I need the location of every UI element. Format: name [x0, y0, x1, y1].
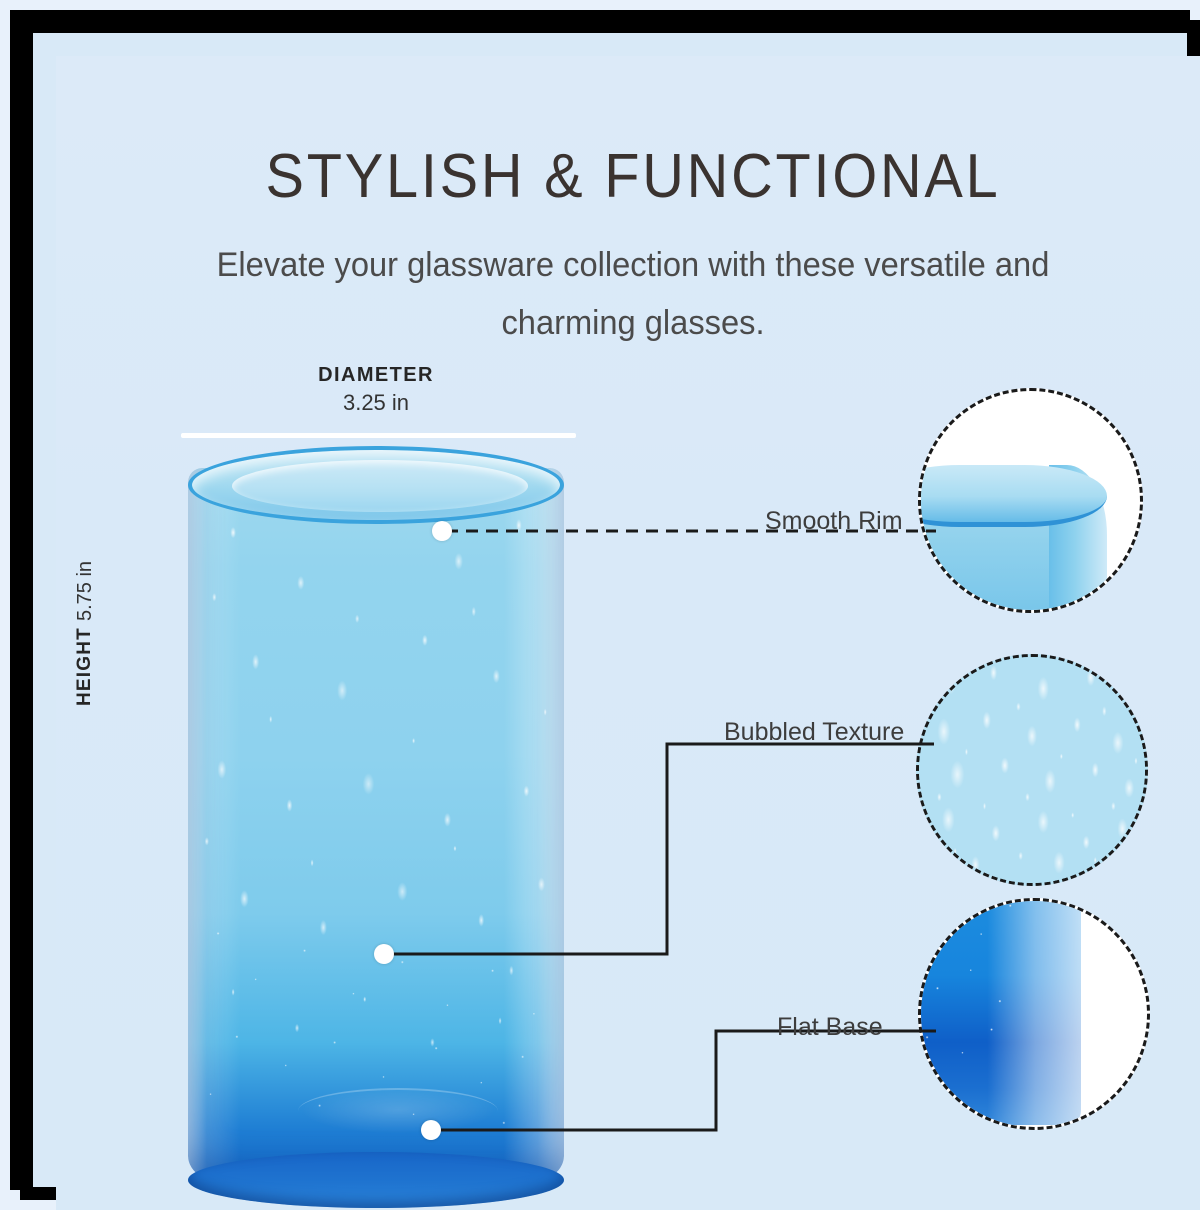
marker-dot-smooth-rim	[432, 521, 452, 541]
callout-label-bubbled-texture: Bubbled Texture	[724, 718, 904, 747]
detail-circle-smooth-rim	[918, 388, 1143, 613]
detail-base-bubble-layer	[918, 898, 1081, 1125]
marker-dot-bubbled-texture	[374, 944, 394, 964]
page-title: STYLISH & FUNCTIONAL	[96, 141, 1169, 212]
glass-inner-base-ring	[298, 1088, 498, 1134]
callout-label-smooth-rim: Smooth Rim	[765, 507, 903, 536]
glass-body	[188, 468, 564, 1186]
diameter-value: 3.25 in	[236, 390, 516, 416]
infographic-canvas: STYLISH & FUNCTIONAL Elevate your glassw…	[56, 56, 1200, 1210]
diameter-measure-line	[181, 433, 576, 438]
page-subtitle: Elevate your glassware collection with t…	[153, 236, 1113, 353]
detail-circle-flat-base	[918, 898, 1150, 1130]
diameter-label: DIAMETER	[236, 364, 516, 387]
marker-dot-flat-base	[421, 1120, 441, 1140]
detail-bubble-layer	[919, 657, 1145, 883]
height-annotation: HEIGHT 5.75 in	[74, 506, 114, 706]
height-label: HEIGHT	[74, 627, 96, 706]
diameter-annotation: DIAMETER 3.25 in	[236, 364, 516, 416]
detail-texture-fill	[919, 657, 1145, 883]
detail-circle-bubbled-texture	[916, 654, 1148, 886]
detail-rim-top-ellipse	[918, 465, 1107, 527]
inner-frame: STYLISH & FUNCTIONAL Elevate your glassw…	[20, 20, 1200, 1200]
detail-base-body	[918, 898, 1081, 1125]
bubble-texture-layer	[188, 899, 564, 1186]
outer-frame: STYLISH & FUNCTIONAL Elevate your glassw…	[0, 0, 1200, 1200]
glass-rim	[188, 446, 564, 524]
glass-rim-opening	[232, 460, 528, 512]
callout-label-flat-base: Flat Base	[777, 1013, 883, 1042]
height-value: 5.75 in	[74, 561, 97, 621]
product-image-glass	[166, 446, 586, 1206]
